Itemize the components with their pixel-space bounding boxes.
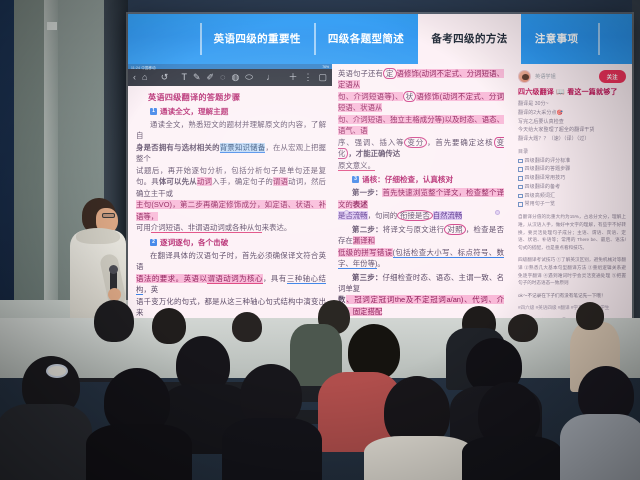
checkbox-icon xyxy=(518,194,523,199)
save-icon[interactable]: ▢ xyxy=(319,73,328,82)
audience-body xyxy=(86,424,192,480)
tab-question-types-label: 四级各题型简述 xyxy=(328,32,404,46)
step-2-number: 2 xyxy=(150,239,157,246)
s1-t-a: 通读全文，熟悉短文的题材并理解原文的内容，了解自 xyxy=(136,120,326,140)
sub1-label: 第一步： xyxy=(352,188,382,197)
status-battery: 76% xyxy=(322,65,329,69)
lasso-icon[interactable]: ⬭ xyxy=(245,73,253,82)
post-line-5: 翻译大题？？（速）（译）（过） xyxy=(518,135,626,144)
toc-item-1-label: 四级翻译的评分标准 xyxy=(525,157,571,166)
step-3-label: 诵核：仔细检查，认真核对 xyxy=(362,174,453,185)
toc-title: 目录 xyxy=(518,148,626,157)
sub2-hl2: 漏译和 xyxy=(353,236,375,245)
sub1-hl4: 自然流畅 xyxy=(433,211,463,220)
step-1-number: 1 xyxy=(150,108,157,115)
sub2-hl1: 对照 xyxy=(444,224,465,235)
eraser-icon[interactable]: ◌ xyxy=(220,73,225,82)
audience-head xyxy=(152,308,186,344)
sub1-hl1: 表述 xyxy=(353,200,368,209)
audience-body xyxy=(364,436,474,480)
author-username: 英语学姐 xyxy=(535,73,595,80)
sub1-hl3: 衔接是否 xyxy=(397,210,433,221)
toc-item-1: 四级翻译的评分标准 xyxy=(518,157,626,166)
s1-hl-1: 背景知识储备 xyxy=(220,143,266,153)
audience-body xyxy=(222,418,322,480)
s1-t-h: 主句(SVO)，第二步再确定修饰成分，如定语、状语、补语等， xyxy=(136,200,326,220)
toc-item-3-label: 四级翻译常用技巧 xyxy=(525,174,566,183)
s2-t-b: 语法的要求。英语以 xyxy=(136,274,207,283)
m-t-h: ，才能正确传达 xyxy=(348,149,400,158)
s1-t-e: 体可以先从 xyxy=(159,177,197,186)
post-body-text: 自翻译分值的比重大约为15%，占总分文分，理解上难，从汉语入手，做好中文字的理解… xyxy=(518,213,626,252)
s2-hl-1: 谓语动词为核心 xyxy=(207,274,263,284)
step-2-heading: 2 逐词逐句，各个击破 xyxy=(150,237,326,248)
audience-body xyxy=(462,436,562,480)
step-3-heading: 3 诵核：仔细检查，认真核对 xyxy=(352,174,504,185)
toc-item-3: 四级翻译常用技巧 xyxy=(518,174,626,183)
sub2-a: 将译文与原文进行 xyxy=(383,225,445,234)
more-icon[interactable]: ⋮ xyxy=(304,73,313,82)
classroom-scene: 英语四级的重要性 四级各题型简述 备考四级的方法 注意事项 11:24 中国移动… xyxy=(0,0,640,480)
s2-t-d: ，英 xyxy=(143,285,158,294)
audience-head xyxy=(576,302,604,330)
audience-body xyxy=(0,404,92,480)
step-1-paragraph: 通读全文，熟悉短文的题材并理解原文的内容，了解自 身是否拥有与选材相关的背景知识… xyxy=(136,119,326,234)
audience-body xyxy=(560,414,640,480)
m-circ-2: 状 xyxy=(403,91,417,102)
s1-hl-2: 动词 xyxy=(197,177,212,186)
s1-t-j: 来表达。 xyxy=(262,223,292,232)
step-1-heading: 1 通读全文，理解主题 xyxy=(150,106,326,117)
post-line-2: 翻译的2大采分点🎯 xyxy=(518,109,626,118)
decoration-dot-left xyxy=(344,210,349,215)
sub2-c: 。 xyxy=(377,259,384,268)
step-2-label: 逐词逐句，各个击破 xyxy=(160,237,228,248)
highlighter-icon[interactable]: ✐ xyxy=(207,73,215,82)
audience-head xyxy=(94,300,134,342)
substep-2: 第二步：将译文与原文进行对照，检查是否存在漏译和 低级的拼写错误(包括检查大小写… xyxy=(338,224,504,270)
text-format-icon[interactable]: T xyxy=(181,73,187,82)
tab-notes-label: 注意事项 xyxy=(535,32,579,46)
slide-tab-bar: 英语四级的重要性 四级各题型简述 备考四级的方法 注意事项 xyxy=(128,14,632,64)
audience-head xyxy=(508,314,538,342)
tab-bar-right-pad xyxy=(592,14,632,64)
sub2-label: 第二步： xyxy=(352,225,383,234)
post-author-row: 英语学姐 关注 xyxy=(518,70,626,83)
projector-screen: 英语四级的重要性 四级各题型简述 备考四级的方法 注意事项 11:24 中国移动… xyxy=(128,14,632,344)
post-extra-text: 四级翻译考试技巧 ①了解英汉区别，避免机械对等翻译 ②熟悉几大基本句型翻译方法 … xyxy=(518,256,626,287)
tab-importance-label: 英语四级的重要性 xyxy=(214,32,301,46)
toc-item-2-label: 四级翻译的答题步骤 xyxy=(525,165,571,174)
checkbox-icon xyxy=(518,202,523,207)
tab-importance[interactable]: 英语四级的重要性 xyxy=(200,14,314,64)
m-t-g: ，首先要确定这核 xyxy=(427,138,493,147)
s1-t-i: 可用 xyxy=(136,223,151,232)
status-carrier: 11:24 中国移动 xyxy=(131,65,156,70)
home-icon[interactable]: ⌂ xyxy=(142,73,147,82)
audience-head xyxy=(232,312,262,342)
tab-preparation-methods[interactable]: 备考四级的方法 xyxy=(418,14,521,64)
left-doc-title: 英语四级翻译的答题步骤 xyxy=(148,91,326,103)
step-3-number: 3 xyxy=(352,176,359,183)
checkbox-icon xyxy=(518,167,523,172)
m-t-c: 句、介词短语等)、 xyxy=(338,92,403,101)
post-line-3: 写完之后要认真检查 xyxy=(518,118,626,127)
avatar[interactable] xyxy=(518,70,531,83)
audience-area xyxy=(0,300,640,480)
m-circ-1: 定 xyxy=(383,68,397,79)
m-t-e: 句、介词短语、独立主格成分等)以及时态、语态、语气、语 xyxy=(338,115,504,135)
tab-bar-left-pad xyxy=(128,14,200,64)
m-t-a: 英语句子还有 xyxy=(338,69,383,78)
s1-t-f: 入手，确定句子的 xyxy=(212,177,273,186)
post-cta: ok～不记录在下子们有没有笔记先一下哦！ xyxy=(518,292,626,300)
substep-1: 第一步：首先快速浏览整个译文，检查整个译文的表述 是否流畅，句间的衔接是否自然流… xyxy=(338,187,504,221)
undo-icon[interactable]: ↺ xyxy=(161,73,169,82)
follow-button[interactable]: 关注 xyxy=(599,70,626,83)
m-circ-3: 变分 xyxy=(404,137,427,148)
mid-top-paragraph: 英语句子还有定语修饰(动词不定式、分词短语、定语从 句、介词短语等)、状语修饰(… xyxy=(338,68,504,171)
s2-t-a: 在翻译具体的汉语句子时，首先必须确保译文符合英语 xyxy=(136,251,326,271)
sub3-label: 第三步： xyxy=(352,273,382,282)
sub1-hl2: 是否流畅 xyxy=(338,211,368,220)
tab-notes[interactable]: 注意事项 xyxy=(521,14,592,64)
post-line-1: 翻译是 30分~ xyxy=(518,100,626,109)
note-app-toolbar: ‹ ⌂ ↺ T ✎ ✐ ◌ ◍ ⬭ ♩ ＋ ⋮ ▢ xyxy=(128,69,332,86)
shape-icon[interactable]: ◍ xyxy=(231,73,239,82)
toc-item-5: 四级高频词汇 xyxy=(518,192,626,201)
m-t-i: 原文意义。 xyxy=(338,161,375,171)
toc-item-4: 四级翻译的备考 xyxy=(518,183,626,192)
decoration-dot-right xyxy=(495,210,500,215)
toc-item-5-label: 四级高频词汇 xyxy=(525,192,556,201)
hair-scrunchie xyxy=(46,364,68,378)
checkbox-icon xyxy=(518,176,523,181)
back-chevron-icon[interactable]: ‹ xyxy=(133,73,136,82)
toc-item-6: 常用句子一览 xyxy=(518,200,626,209)
checkbox-icon xyxy=(518,159,523,164)
pen-icon[interactable]: ✎ xyxy=(193,73,201,82)
toc-item-6-label: 常用句子一览 xyxy=(525,200,556,209)
sub1-b: ，句间的 xyxy=(368,211,398,220)
s1-hl-4: 介词短语、非谓语动词或各种从句 xyxy=(151,223,262,233)
tab-question-types[interactable]: 四级各题型简述 xyxy=(314,14,417,64)
toc-item-4-label: 四级翻译的备考 xyxy=(525,183,561,192)
post-title: 四六级翻译 📖 看这一篇就够了 xyxy=(518,87,626,97)
add-icon[interactable]: ＋ xyxy=(288,73,297,82)
tab-divider xyxy=(314,23,316,55)
post-line-4: 今天给大家整理了超全的翻译干货 xyxy=(518,126,626,135)
mic-icon[interactable]: ♩ xyxy=(266,73,275,82)
presenter-hood xyxy=(76,228,120,244)
phone-status-bar: 11:24 中国移动 76% xyxy=(128,64,332,69)
step-1-label: 通读全文，理解主题 xyxy=(160,106,228,117)
tab-divider xyxy=(200,23,202,55)
toc-item-2: 四级翻译的答题步骤 xyxy=(518,165,626,174)
m-t-f: 序、强调、插入等 xyxy=(338,138,404,147)
s2-t-c: ，具有 xyxy=(263,274,287,283)
s1-t-b: 身是否拥有与选材相关的 xyxy=(136,143,220,152)
checkbox-icon xyxy=(518,185,523,190)
sub2-hl3: 低级的拼写错误 xyxy=(338,248,393,257)
glasses-icon xyxy=(102,213,115,218)
tab-preparation-methods-label: 备考四级的方法 xyxy=(431,32,507,46)
s1-hl-3: 谓语 xyxy=(273,177,288,186)
